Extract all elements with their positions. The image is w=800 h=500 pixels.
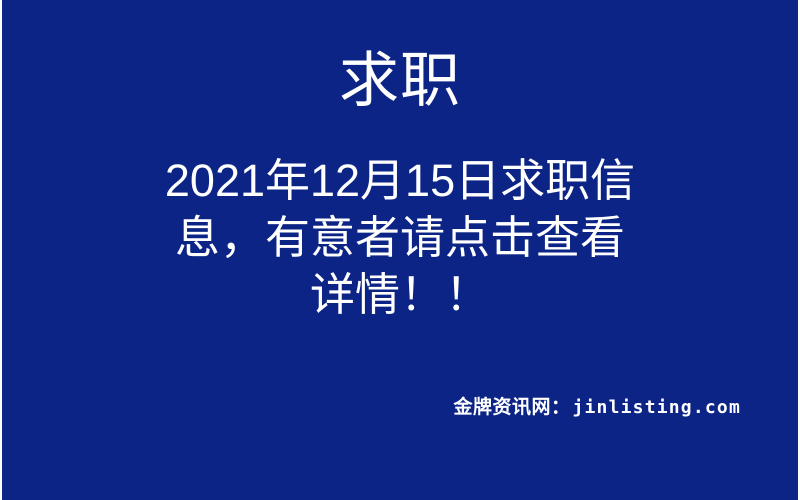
- site-url-label: jinlisting.com: [572, 397, 741, 418]
- site-name-label: 金牌资讯网：: [453, 392, 570, 419]
- footer-watermark: 金牌资讯网： jinlisting.com: [453, 392, 741, 419]
- page-title: 求职: [2, 46, 798, 116]
- promo-poster: 求职 2021年12月15日求职信息，有意者请点击查看详情！！ 金牌资讯网： j…: [0, 0, 800, 500]
- announcement-body-text: 2021年12月15日求职信息，有意者请点击查看详情！！: [158, 152, 642, 323]
